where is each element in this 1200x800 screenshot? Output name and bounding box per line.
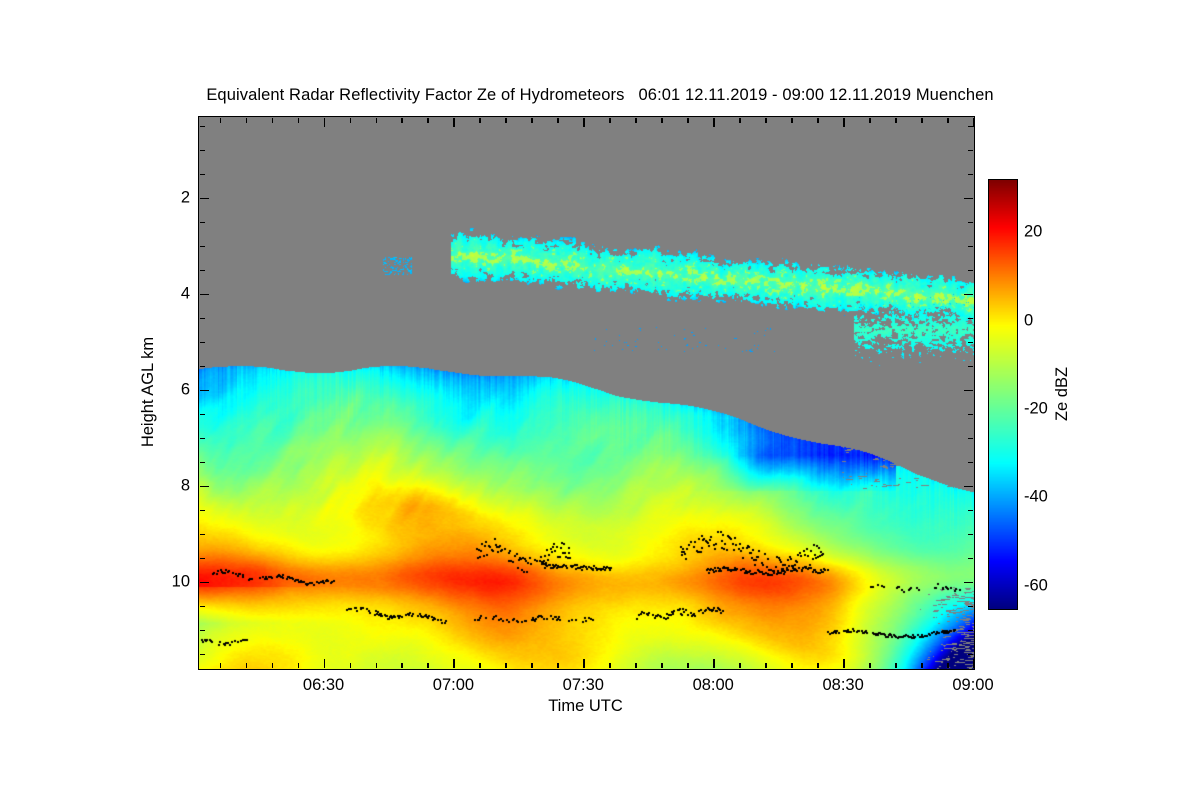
x-tick-label: 06:30 bbox=[303, 676, 344, 695]
axis-tick bbox=[635, 663, 637, 668]
axis-tick bbox=[869, 663, 871, 668]
axis-tick bbox=[973, 118, 975, 127]
axis-tick bbox=[791, 663, 793, 668]
y-tick-label: 8 bbox=[181, 476, 190, 495]
axis-tick bbox=[964, 486, 973, 488]
axis-tick bbox=[739, 663, 741, 668]
axis-tick bbox=[973, 659, 975, 668]
axis-tick bbox=[968, 630, 973, 632]
axis-tick bbox=[200, 174, 205, 176]
colorbar[interactable] bbox=[988, 179, 1018, 610]
axis-tick bbox=[968, 270, 973, 272]
axis-tick bbox=[200, 558, 205, 560]
axis-tick bbox=[272, 663, 274, 668]
axis-tick bbox=[968, 462, 973, 464]
axis-tick bbox=[298, 663, 300, 668]
colorbar-tick-label: -20 bbox=[1024, 399, 1048, 418]
axis-tick bbox=[687, 118, 689, 123]
axis-tick bbox=[401, 118, 403, 123]
axis-tick bbox=[453, 118, 455, 127]
x-tick-label: 07:30 bbox=[563, 676, 604, 695]
axis-tick bbox=[200, 222, 205, 224]
axis-tick bbox=[427, 663, 429, 668]
axis-tick bbox=[739, 118, 741, 123]
colorbar-canvas bbox=[989, 180, 1017, 609]
axis-tick bbox=[200, 318, 205, 320]
x-tick-label: 07:00 bbox=[433, 676, 474, 695]
axis-tick bbox=[921, 663, 923, 668]
axis-tick bbox=[220, 663, 222, 668]
axis-tick bbox=[272, 118, 274, 123]
axis-tick bbox=[200, 534, 205, 536]
axis-tick bbox=[246, 663, 248, 668]
axis-tick bbox=[200, 270, 205, 272]
axis-tick bbox=[200, 438, 205, 440]
colorbar-tick-label: 20 bbox=[1024, 223, 1042, 242]
axis-tick bbox=[843, 659, 845, 668]
axis-tick bbox=[968, 150, 973, 152]
axis-tick bbox=[200, 246, 205, 248]
axis-tick bbox=[376, 663, 378, 668]
axis-tick bbox=[713, 118, 715, 127]
axis-tick bbox=[964, 582, 973, 584]
figure-title: Equivalent Radar Reflectivity Factor Ze … bbox=[0, 86, 1200, 105]
axis-tick bbox=[968, 342, 973, 344]
axis-tick bbox=[531, 118, 533, 123]
axis-tick bbox=[200, 126, 205, 128]
axis-tick bbox=[505, 118, 507, 123]
axis-tick bbox=[200, 606, 205, 608]
axis-tick bbox=[661, 663, 663, 668]
axis-tick bbox=[968, 246, 973, 248]
x-tick-label: 09:00 bbox=[952, 676, 993, 695]
heatmap-canvas bbox=[199, 117, 974, 669]
axis-tick bbox=[200, 198, 209, 200]
axis-tick bbox=[350, 663, 352, 668]
axis-tick bbox=[968, 510, 973, 512]
y-tick-label: 6 bbox=[181, 380, 190, 399]
axis-tick bbox=[791, 118, 793, 123]
axis-tick bbox=[895, 663, 897, 668]
axis-tick bbox=[947, 118, 949, 123]
axis-tick bbox=[246, 118, 248, 123]
axis-tick bbox=[895, 118, 897, 123]
axis-tick bbox=[968, 534, 973, 536]
axis-tick bbox=[817, 118, 819, 123]
axis-tick bbox=[401, 663, 403, 668]
axis-tick bbox=[505, 663, 507, 668]
axis-tick bbox=[968, 558, 973, 560]
axis-tick bbox=[200, 150, 205, 152]
axis-tick bbox=[765, 118, 767, 123]
axis-tick bbox=[350, 118, 352, 123]
axis-tick bbox=[200, 486, 209, 488]
axis-tick bbox=[921, 118, 923, 123]
axis-tick bbox=[968, 606, 973, 608]
axis-tick bbox=[557, 118, 559, 123]
axis-tick bbox=[200, 366, 205, 368]
axis-tick bbox=[968, 414, 973, 416]
axis-tick bbox=[968, 438, 973, 440]
colorbar-tick-label: 0 bbox=[1024, 311, 1033, 330]
axis-tick bbox=[376, 118, 378, 123]
axis-tick bbox=[635, 118, 637, 123]
axis-tick bbox=[968, 654, 973, 656]
axis-tick bbox=[200, 390, 209, 392]
axis-tick bbox=[843, 118, 845, 127]
axis-tick bbox=[427, 118, 429, 123]
axis-tick bbox=[947, 663, 949, 668]
axis-tick bbox=[583, 118, 585, 127]
axis-tick bbox=[298, 118, 300, 123]
axis-tick bbox=[200, 342, 205, 344]
axis-tick bbox=[200, 414, 205, 416]
axis-tick bbox=[964, 294, 973, 296]
axis-tick bbox=[220, 118, 222, 123]
radar-heatmap-plot[interactable] bbox=[198, 116, 975, 670]
axis-tick bbox=[713, 659, 715, 668]
axis-tick bbox=[964, 198, 973, 200]
axis-tick bbox=[765, 663, 767, 668]
axis-tick bbox=[968, 222, 973, 224]
axis-tick bbox=[968, 318, 973, 320]
y-tick-label: 4 bbox=[181, 284, 190, 303]
x-axis-label: Time UTC bbox=[198, 697, 973, 716]
axis-tick bbox=[869, 118, 871, 123]
x-tick-label: 08:00 bbox=[693, 676, 734, 695]
axis-tick bbox=[964, 390, 973, 392]
colorbar-tick-label: -40 bbox=[1024, 488, 1048, 507]
axis-tick bbox=[557, 663, 559, 668]
axis-tick bbox=[200, 294, 209, 296]
axis-tick bbox=[324, 659, 326, 668]
axis-tick bbox=[661, 118, 663, 123]
axis-tick bbox=[687, 663, 689, 668]
axis-tick bbox=[531, 663, 533, 668]
y-tick-label: 10 bbox=[172, 572, 190, 591]
axis-tick bbox=[609, 118, 611, 123]
axis-tick bbox=[817, 663, 819, 668]
colorbar-label: Ze dBZ bbox=[1053, 366, 1072, 420]
axis-tick bbox=[583, 659, 585, 668]
axis-tick bbox=[968, 174, 973, 176]
axis-tick bbox=[200, 462, 205, 464]
axis-tick bbox=[479, 118, 481, 123]
axis-tick bbox=[200, 630, 205, 632]
figure-root: Equivalent Radar Reflectivity Factor Ze … bbox=[0, 0, 1200, 800]
axis-tick bbox=[200, 582, 209, 584]
axis-tick bbox=[968, 366, 973, 368]
colorbar-tick-label: -60 bbox=[1024, 576, 1048, 595]
axis-tick bbox=[453, 659, 455, 668]
axis-tick bbox=[479, 663, 481, 668]
axis-tick bbox=[324, 118, 326, 127]
x-tick-label: 08:30 bbox=[822, 676, 863, 695]
heatmap-canvas-wrap bbox=[199, 117, 974, 669]
axis-tick bbox=[200, 510, 205, 512]
y-axis-label: Height AGL km bbox=[139, 337, 158, 447]
y-tick-label: 2 bbox=[181, 188, 190, 207]
axis-tick bbox=[200, 654, 205, 656]
axis-tick bbox=[609, 663, 611, 668]
